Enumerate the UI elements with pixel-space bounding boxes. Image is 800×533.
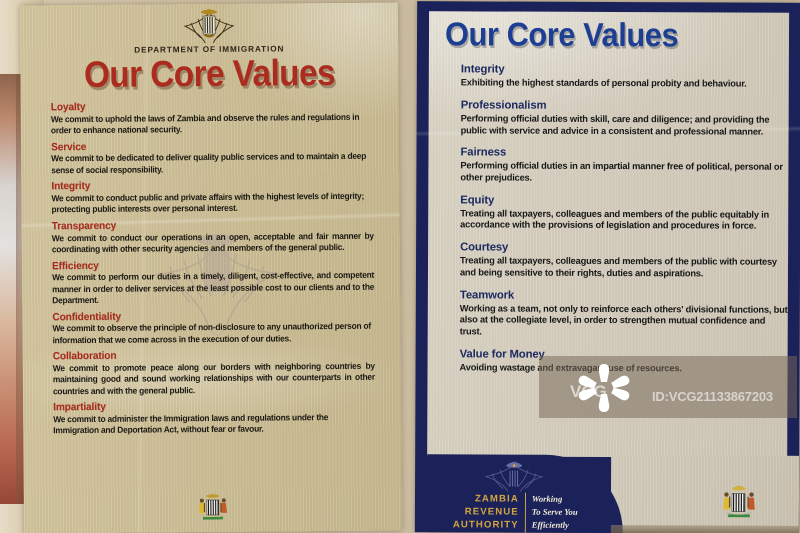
value-heading: Professionalism	[461, 99, 789, 114]
value-item-courtesy: Courtesy Treating all taxpayers, colleag…	[460, 241, 788, 280]
value-item-confidentiality: Confidentiality We commit to observe the…	[52, 308, 384, 346]
screenshot-stage: DEPARTMENT OF IMMIGRATION Our Core Value…	[0, 0, 800, 533]
zra-organisation-name: ZAMBIA REVENUE AUTHORITY	[453, 492, 525, 532]
value-text: Working as a team, not only to reinforce…	[460, 303, 788, 340]
zra-tagline-3: Efficiently	[532, 519, 578, 532]
right-poster-title: Our Core Values	[445, 17, 678, 51]
left-values-list: Loyalty We commit to uphold the laws of …	[51, 99, 386, 442]
value-item-equity: Equity Treating all taxpayers, colleague…	[460, 194, 788, 233]
value-item-efficiency: Efficiency We commit to perform our duti…	[52, 257, 384, 306]
value-text: We commit to be dedicated to deliver qua…	[51, 151, 373, 176]
value-item-loyalty: Loyalty We commit to uphold the laws of …	[51, 99, 383, 137]
right-values-list: Integrity Exhibiting the highest standar…	[459, 63, 788, 385]
value-heading: Integrity	[461, 63, 789, 78]
zra-eagle-crest-icon	[481, 459, 547, 493]
supporter-left	[199, 499, 205, 514]
value-text: We commit to perform our duties in a tim…	[52, 270, 374, 306]
supporter-right	[747, 492, 754, 509]
value-text: Performing official duties in an imparti…	[460, 161, 788, 186]
zra-tagline-2: To Serve You	[532, 506, 578, 519]
zra-logo-block: ZAMBIA REVENUE AUTHORITY Working To Serv…	[427, 454, 623, 533]
zra-line-3: AUTHORITY	[453, 519, 519, 533]
value-item-transparency: Transparency We commit to conduct our op…	[52, 218, 384, 256]
zra-line-1: ZAMBIA	[453, 492, 519, 506]
footer-background-strip	[611, 455, 799, 533]
left-poster-title: Our Core Values	[39, 54, 379, 94]
zra-divider	[525, 493, 526, 533]
value-heading: Equity	[460, 194, 788, 209]
value-heading: Teamwork	[460, 289, 788, 304]
zra-tagline: Working To Serve You Efficiently	[532, 493, 578, 532]
department-crest-icon	[182, 7, 236, 45]
value-item-service: Service We commit to be dedicated to del…	[51, 138, 383, 176]
value-item-collaboration: Collaboration We commit to promote peace…	[53, 348, 385, 397]
value-heading: Courtesy	[460, 241, 788, 256]
value-text: Treating all taxpayers, colleagues and m…	[460, 256, 788, 281]
value-text: We commit to promote peace along our bor…	[53, 361, 375, 397]
value-text: We commit to observe the principle of no…	[52, 321, 374, 346]
value-item-integrity: Integrity Exhibiting the highest standar…	[461, 63, 789, 90]
zra-line-2: REVENUE	[453, 506, 519, 520]
value-text: We commit to conduct public and private …	[51, 191, 373, 216]
zra-wordmark: ZAMBIA REVENUE AUTHORITY Working To Serv…	[453, 492, 578, 532]
value-text: We commit to conduct our operations in a…	[52, 230, 374, 255]
value-text: Treating all taxpayers, colleagues and m…	[460, 208, 788, 233]
value-item-fairness: Fairness Performing official duties in a…	[460, 147, 788, 186]
value-item-impartiality: Impartiality We commit to administer the…	[53, 399, 385, 437]
right-poster-footer: ZAMBIA REVENUE AUTHORITY Working To Serv…	[415, 454, 799, 533]
supporter-right	[220, 498, 227, 513]
supporter-left	[723, 492, 730, 509]
zra-tagline-1: Working	[532, 493, 578, 506]
value-item-integrity: Integrity We commit to conduct public an…	[51, 178, 383, 216]
poster-department-of-immigration: DEPARTMENT OF IMMIGRATION Our Core Value…	[20, 3, 402, 533]
footer-baseline-shadow	[611, 525, 799, 533]
value-heading: Fairness	[460, 147, 788, 162]
zambia-coat-of-arms-icon	[193, 491, 233, 525]
poster-zambia-revenue-authority: Our Core Values Integrity Exhibiting the…	[415, 1, 800, 533]
zambia-coat-of-arms-icon	[717, 481, 761, 523]
watermark-id: ID:VCG21133867203	[652, 389, 773, 404]
value-item-professionalism: Professionalism Performing official duti…	[461, 99, 789, 138]
watermark-brand: VCG	[570, 382, 607, 402]
value-text: Performing official duties with skill, c…	[461, 113, 789, 138]
value-text: Exhibiting the highest standards of pers…	[461, 77, 789, 90]
value-item-teamwork: Teamwork Working as a team, not only to …	[460, 289, 788, 340]
value-text: We commit to administer the Immigration …	[53, 412, 375, 437]
value-text: We commit to uphold the laws of Zambia a…	[51, 111, 373, 136]
